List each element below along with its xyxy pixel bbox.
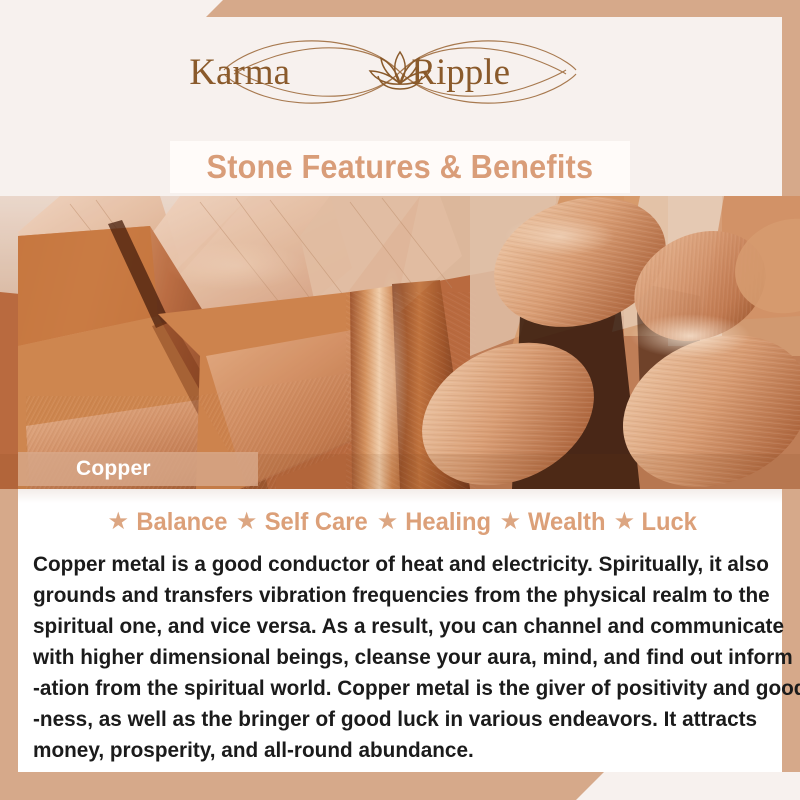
benefit-balance: Balance xyxy=(136,508,227,537)
description-line: with higher dimensional beings, cleanse … xyxy=(33,642,749,673)
decorative-band-bottom xyxy=(0,772,604,800)
decorative-band-top xyxy=(206,0,800,17)
brand-logo: Karma Ripple xyxy=(0,26,800,122)
description-line: Copper metal is a good conductor of heat… xyxy=(33,549,749,580)
photo-caption-bar: Copper xyxy=(18,452,258,486)
title-banner: Stone Features & Benefits xyxy=(170,141,630,193)
description-line: grounds and transfers vibration frequenc… xyxy=(33,580,749,611)
benefit-healing: Healing xyxy=(406,508,492,537)
star-icon: ★ xyxy=(107,510,129,534)
infographic-page: Karma Ripple Stone Features & Benefits xyxy=(0,0,800,800)
brand-name-right: Ripple xyxy=(411,52,510,93)
star-icon: ★ xyxy=(377,510,399,534)
brand-logo-svg: Karma Ripple xyxy=(190,26,610,122)
card-top-fade xyxy=(18,489,782,503)
copper-bars-photo xyxy=(0,196,800,489)
benefit-luck: Luck xyxy=(642,508,697,537)
description-text: Copper metal is a good conductor of heat… xyxy=(33,549,775,766)
description-line: money, prosperity, and all-round abundan… xyxy=(33,735,749,766)
star-icon: ★ xyxy=(236,510,258,534)
description-line: spiritual one, and vice versa. As a resu… xyxy=(33,611,749,642)
photo-caption-label: Copper xyxy=(76,457,151,481)
page-title: Stone Features & Benefits xyxy=(207,148,594,186)
benefits-row: ★ Balance ★ Self Care ★ Healing ★ Wealth… xyxy=(18,508,782,537)
copper-photo-art xyxy=(0,196,800,489)
description-line: -ness, as well as the bringer of good lu… xyxy=(33,704,749,735)
brand-name-left: Karma xyxy=(190,52,290,93)
star-icon: ★ xyxy=(614,510,636,534)
benefit-wealth: Wealth xyxy=(528,508,605,537)
content-card: ★ Balance ★ Self Care ★ Healing ★ Wealth… xyxy=(18,489,782,772)
star-icon: ★ xyxy=(500,510,522,534)
description-line: -ation from the spiritual world. Copper … xyxy=(33,673,749,704)
benefit-self-care: Self Care xyxy=(265,508,368,537)
